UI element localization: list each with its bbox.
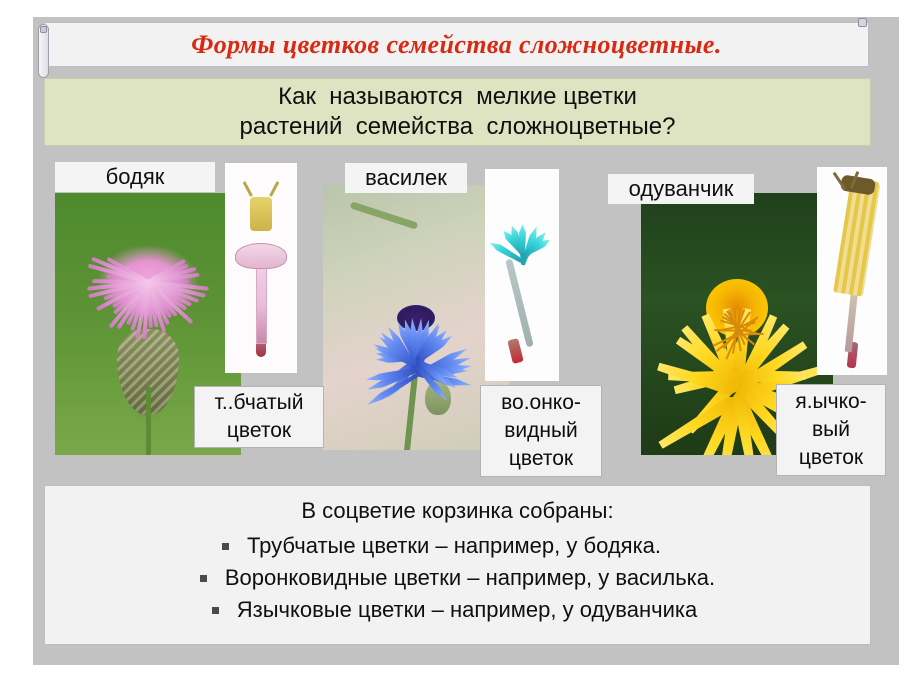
caption-line: во.онко- xyxy=(501,389,581,417)
square-bullet-icon xyxy=(200,575,207,582)
funnel-base xyxy=(507,338,523,364)
caption-line: т..бчатый xyxy=(215,389,304,417)
title-top-left-handle-dot[interactable] xyxy=(40,26,47,33)
square-bullet-icon xyxy=(212,607,219,614)
tubular-style-right xyxy=(269,181,279,197)
ligulate-strap-tip xyxy=(840,175,876,196)
summary-heading: В соцветие корзинка собраны: xyxy=(301,498,613,524)
title-top-right-resize-handle[interactable] xyxy=(858,18,867,27)
summary-list-item: Воронковидные цветки – например, у васил… xyxy=(200,565,715,591)
cornflower-leaf xyxy=(350,201,419,229)
tubular-anther xyxy=(250,197,272,231)
caption-funnel-floret: во.онко- видный цветок xyxy=(480,385,602,477)
caption-line: я.ычко- xyxy=(795,388,866,416)
summary-list-item: Язычковые цветки – например, у одуванчик… xyxy=(212,597,703,623)
plant-label-vasilek: василек xyxy=(345,163,467,193)
caption-line: цветок xyxy=(509,445,573,473)
caption-tubular-floret: т..бчатый цветок xyxy=(194,386,324,448)
tubular-corolla xyxy=(235,243,287,269)
question-box: Как называются мелкие цветки растений се… xyxy=(44,78,871,146)
summary-item-text: Воронковидные цветки – например, у васил… xyxy=(225,565,715,591)
question-line-2: растений семейства сложноцветные? xyxy=(240,112,676,142)
funnel-floret-photo xyxy=(485,169,559,381)
caption-line: вый xyxy=(812,416,850,444)
caption-line: видный xyxy=(504,417,578,445)
page-title: Формы цветков семейства сложноцветные. xyxy=(191,30,722,60)
slide-root: Формы цветков семейства сложноцветные. К… xyxy=(0,0,910,683)
ligulate-floret-photo xyxy=(817,167,887,375)
plant-label-oduvanchik: одуванчик xyxy=(608,174,754,204)
caption-ligulate-floret: я.ычко- вый цветок xyxy=(776,384,886,476)
cornflower-disc xyxy=(397,305,435,331)
summary-box: В соцветие корзинка собраны: Трубчатые ц… xyxy=(44,485,871,645)
tubular-tube xyxy=(256,260,267,344)
question-line-1: Как называются мелкие цветки xyxy=(278,82,637,112)
square-bullet-icon xyxy=(222,543,229,550)
summary-item-text: Трубчатые цветки – например, у бодяка. xyxy=(247,533,661,559)
caption-line: цветок xyxy=(227,417,291,445)
funnel-tube xyxy=(505,259,534,348)
title-textbox[interactable]: Формы цветков семейства сложноцветные. xyxy=(44,22,869,67)
summary-item-text: Язычковые цветки – например, у одуванчик… xyxy=(237,597,697,623)
ligulate-strap xyxy=(833,178,881,297)
plant-label-bodyak: бодяк xyxy=(55,162,215,192)
tubular-floret-photo xyxy=(225,163,297,373)
caption-line: цветок xyxy=(799,444,863,472)
photo-band xyxy=(33,155,899,465)
summary-list-item: Трубчатые цветки – например, у бодяка. xyxy=(222,533,693,559)
tubular-style-left xyxy=(243,181,253,197)
thistle-stem xyxy=(146,387,151,455)
